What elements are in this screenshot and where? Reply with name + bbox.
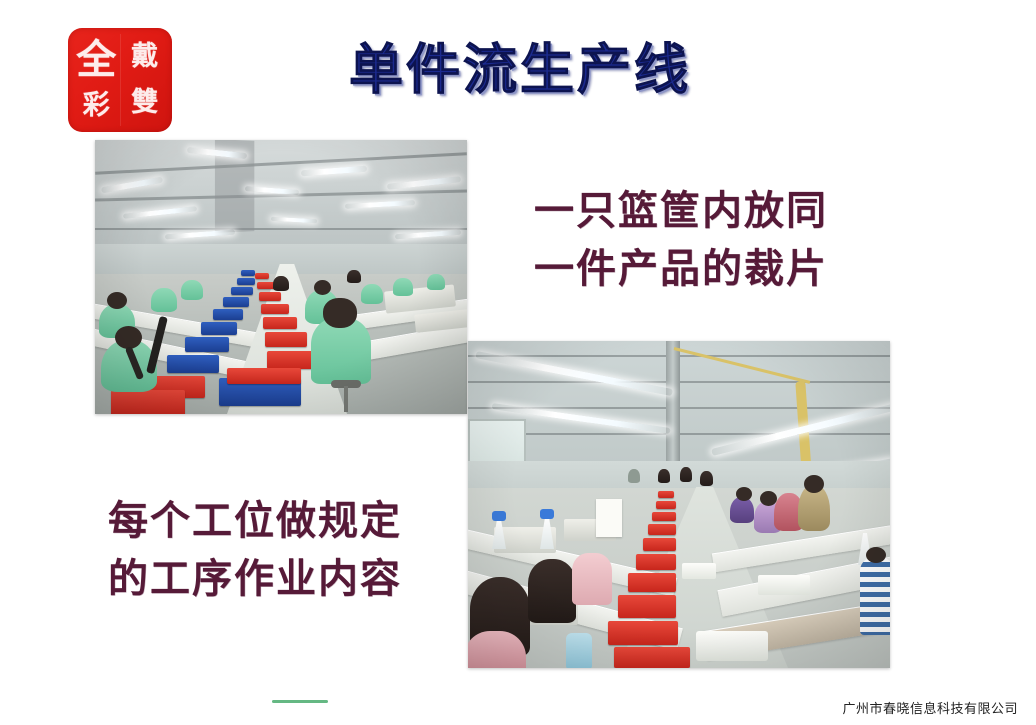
photo-1-vignette: [95, 140, 467, 414]
photo-2-vignette: [468, 341, 890, 668]
photo-sewing-workshop: [468, 341, 890, 668]
seal-left-column: 全 彩: [72, 34, 120, 126]
seal-char-shuang: 雙: [131, 90, 157, 116]
seal-char-quan: 全: [76, 41, 115, 79]
footer-company-name: 广州市春晓信息科技有限公司: [842, 698, 1018, 717]
page-title: 单件流生产线: [300, 42, 740, 99]
company-seal-logo: 全 彩 戴 雙: [68, 28, 172, 132]
slide-canvas: 全 彩 戴 雙 单件流生产线: [0, 0, 1036, 725]
seal-char-dai: 戴: [131, 44, 157, 70]
seal-right-column: 戴 雙: [121, 34, 169, 126]
caption-right-top: 一只篮筐内放同 一件产品的裁片: [534, 182, 828, 298]
photo-2-scene: [468, 341, 890, 668]
photo-production-line-baskets: [95, 140, 467, 414]
caption-left-bottom: 每个工位做规定 的工序作业内容: [108, 492, 402, 608]
footer-accent-bar: [272, 700, 328, 703]
seal-char-cai: 彩: [83, 93, 109, 119]
photo-1-scene: [95, 140, 467, 414]
